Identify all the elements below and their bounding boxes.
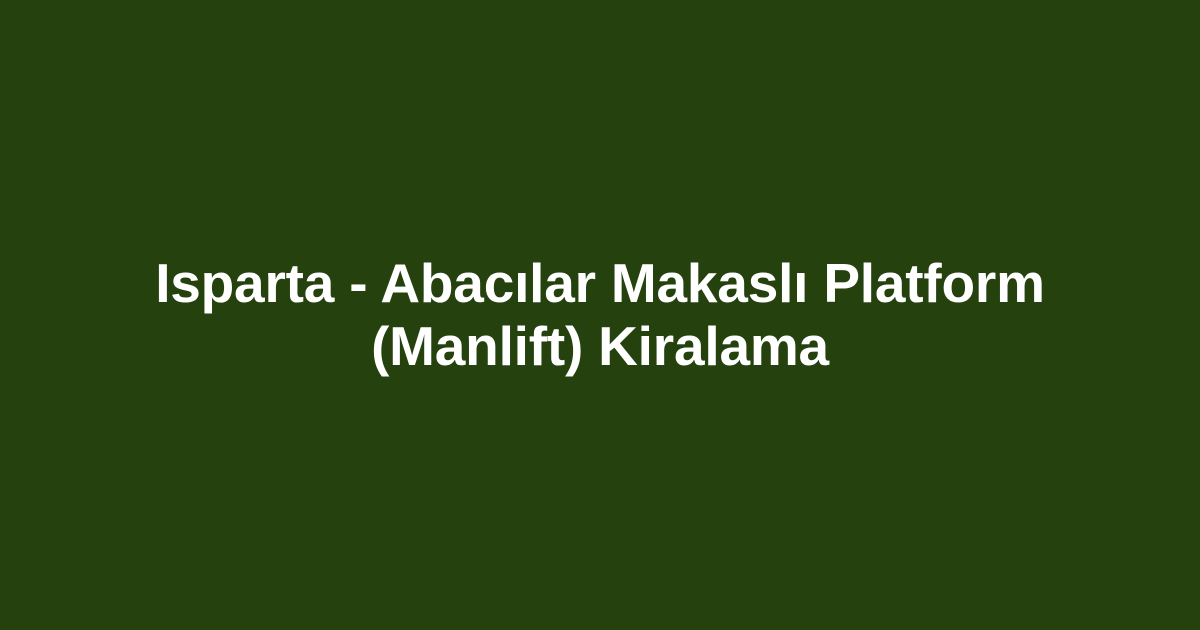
- share-card: Isparta - Abacılar Makaslı Platform (Man…: [0, 0, 1200, 630]
- share-card-content: Isparta - Abacılar Makaslı Platform (Man…: [100, 252, 1100, 378]
- page-title: Isparta - Abacılar Makaslı Platform (Man…: [150, 252, 1050, 378]
